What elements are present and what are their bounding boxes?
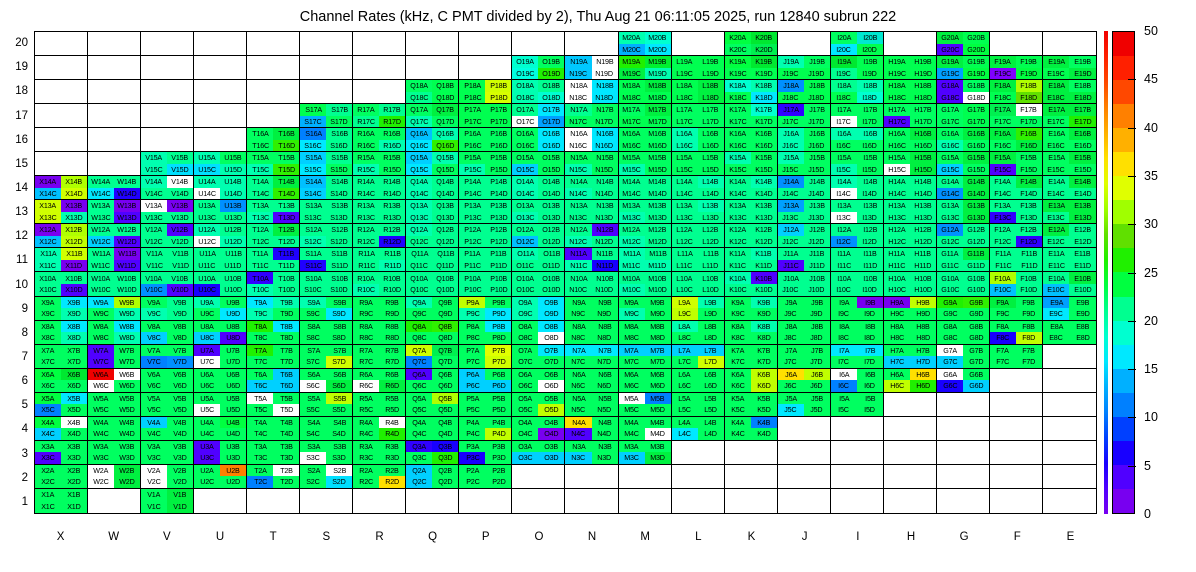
channel-Q6D: Q6D — [432, 380, 458, 392]
channel-I10D: I10D — [857, 284, 883, 296]
grid-cell-V12: V12AV12BV12CV12D — [141, 224, 194, 248]
grid-cell-P2: P2AP2BP2CP2D — [459, 465, 512, 489]
channel-X6C: X6C — [35, 380, 61, 392]
channel-T3D: T3D — [273, 452, 299, 464]
channel-T8C: T8C — [247, 332, 273, 344]
channel-I18B: I18B — [857, 80, 883, 92]
channel-U2C: U2C — [194, 476, 220, 488]
channel-Q11D: Q11D — [432, 260, 458, 272]
channel-I20C: I20C — [831, 44, 857, 56]
channel-W13B: W13B — [114, 200, 140, 212]
channel-M19D: M19D — [645, 68, 671, 80]
channel-L14B: L14B — [698, 176, 724, 188]
channel-J10C: J10C — [778, 284, 804, 296]
grid-cell-S5: S5AS5BS5CS5D — [300, 393, 353, 417]
channel-R16A: R16A — [353, 128, 379, 140]
grid-cell-T13: T13AT13BT13CT13D — [247, 200, 300, 224]
channel-W4C: W4C — [88, 428, 114, 440]
channel-M16C: M16C — [619, 140, 645, 152]
grid-cell-N13: N13AN13BN13CN13D — [565, 200, 618, 224]
grid-cell-S1 — [300, 489, 353, 513]
channel-V11B: V11B — [167, 248, 193, 260]
channel-P14A: P14A — [459, 176, 485, 188]
channel-H16B: H16B — [910, 128, 936, 140]
channel-H14C: H14C — [884, 188, 910, 200]
channel-M7C: M7C — [619, 356, 645, 368]
grid-cell-J11: J11AJ11BJ11CJ11D — [778, 248, 831, 272]
channel-G13C: G13C — [937, 212, 963, 224]
channel-G18B: G18B — [963, 80, 989, 92]
channel-U11C: U11C — [194, 260, 220, 272]
channel-K8C: K8C — [725, 332, 751, 344]
grid-cell-P20 — [459, 32, 512, 56]
channel-W7A: W7A — [88, 345, 114, 357]
grid-cell-J5: J5AJ5BJ5CJ5D — [778, 393, 831, 417]
channel-J18D: J18D — [804, 92, 830, 104]
channel-M18A: M18A — [619, 80, 645, 92]
channel-M19C: M19C — [619, 68, 645, 80]
channel-I17D: I17D — [857, 116, 883, 128]
channel-G10A: G10A — [937, 272, 963, 284]
channel-I7D: I7D — [857, 356, 883, 368]
channel-E15C: E15C — [1043, 164, 1070, 176]
channel-T12A: T12A — [247, 224, 273, 236]
channel-N19C: N19C — [565, 68, 591, 80]
channel-Q3B: Q3B — [432, 441, 458, 453]
x-tick-W: W — [94, 531, 134, 543]
channel-H12D: H12D — [910, 236, 936, 248]
channel-I10C: I10C — [831, 284, 857, 296]
channel-O7B: O7B — [538, 345, 564, 357]
channel-O7D: O7D — [538, 356, 564, 368]
channel-N18D: N18D — [592, 92, 618, 104]
channel-R10C: R10C — [353, 284, 379, 296]
channel-U9D: U9D — [220, 308, 246, 320]
channel-T10D: T10D — [273, 284, 299, 296]
channel-E12B: E12B — [1069, 224, 1096, 236]
channel-W11D: W11D — [114, 260, 140, 272]
channel-L9B: L9B — [698, 297, 724, 309]
channel-S3C: S3C — [300, 452, 326, 464]
grid-cell-L4: L4AL4BL4CL4D — [672, 417, 725, 441]
channel-M4B: M4B — [645, 417, 671, 429]
channel-I6C: I6C — [831, 380, 857, 392]
grid-cell-T6: T6AT6BT6CT6D — [247, 369, 300, 393]
colorbar-tick-label-25: 25 — [1144, 266, 1158, 280]
y-tick-3: 3 — [0, 448, 28, 460]
channel-U10C: U10C — [194, 284, 220, 296]
channel-V2C: V2C — [141, 476, 167, 488]
grid-cell-R11: R11AR11BR11CR11D — [353, 248, 406, 272]
channel-X7D: X7D — [61, 356, 87, 368]
channel-F12B: F12B — [1016, 224, 1042, 236]
channel-R2B: R2B — [379, 465, 405, 477]
channel-S9A: S9A — [300, 297, 326, 309]
grid-cell-W19 — [88, 56, 141, 80]
channel-N12D: N12D — [592, 236, 618, 248]
channel-U5B: U5B — [220, 393, 246, 405]
channel-U8B: U8B — [220, 321, 246, 333]
grid-cell-R4: R4AR4BR4CR4D — [353, 417, 406, 441]
grid-cell-E17: E17AE17BE17CE17D — [1043, 104, 1096, 128]
channel-J14B: J14B — [804, 176, 830, 188]
channel-P16C: P16C — [459, 140, 485, 152]
channel-H18A: H18A — [884, 80, 910, 92]
channel-J15B: J15B — [804, 152, 830, 164]
grid-cell-Q19 — [406, 56, 459, 80]
channel-F18C: F18C — [990, 92, 1016, 104]
channel-R17D: R17D — [379, 116, 405, 128]
channel-H9D: H9D — [910, 308, 936, 320]
grid-cell-W18 — [88, 80, 141, 104]
grid-cell-F3 — [990, 441, 1043, 465]
channel-G18A: G18A — [937, 80, 963, 92]
channel-S15C: S15C — [300, 164, 326, 176]
channel-X4D: X4D — [61, 428, 87, 440]
y-tick-19: 19 — [0, 61, 28, 73]
grid-cell-Q1 — [406, 489, 459, 513]
grid-cell-O19: O19AO19BO19CO19D — [512, 56, 565, 80]
channel-U13B: U13B — [220, 200, 246, 212]
grid-cell-L20 — [672, 32, 725, 56]
channel-V10A: V10A — [141, 272, 167, 284]
channel-P4A: P4A — [459, 417, 485, 429]
channel-K7B: K7B — [751, 345, 777, 357]
channel-R11C: R11C — [353, 260, 379, 272]
channel-K11D: K11D — [751, 260, 777, 272]
grid-cell-H18: H18AH18BH18CH18D — [884, 80, 937, 104]
channel-Q7C: Q7C — [406, 356, 432, 368]
channel-W7B: W7B — [114, 345, 140, 357]
channel-R3A: R3A — [353, 441, 379, 453]
channel-O18B: O18B — [538, 80, 564, 92]
channel-V6A: V6A — [141, 369, 167, 381]
channel-P4D: P4D — [485, 428, 511, 440]
grid-cell-U1 — [194, 489, 247, 513]
channel-I6A: I6A — [831, 369, 857, 381]
grid-cell-L8: L8AL8BL8CL8D — [672, 321, 725, 345]
grid-cell-E6 — [1043, 369, 1096, 393]
channel-J18C: J18C — [778, 92, 804, 104]
channel-M20C: M20C — [619, 44, 645, 56]
grid-cell-S16: S16AS16BS16CS16D — [300, 128, 353, 152]
channel-L4B: L4B — [698, 417, 724, 429]
channel-H12B: H12B — [910, 224, 936, 236]
channel-J19C: J19C — [778, 68, 804, 80]
channel-P18C: P18C — [459, 92, 485, 104]
grid-cell-J20 — [778, 32, 831, 56]
channel-W6A: W6A — [88, 369, 114, 381]
channel-U9C: U9C — [194, 308, 220, 320]
channel-S4C: S4C — [300, 428, 326, 440]
channel-R14A: R14A — [353, 176, 379, 188]
channel-J9A: J9A — [778, 297, 804, 309]
grid-cell-Q11: Q11AQ11BQ11CQ11D — [406, 248, 459, 272]
grid-cell-O8: O8AO8BO8CO8D — [512, 321, 565, 345]
channel-V14D: V14D — [167, 188, 193, 200]
channel-L11D: L11D — [698, 260, 724, 272]
channel-K11B: K11B — [751, 248, 777, 260]
grid-cell-P9: P9AP9BP9CP9D — [459, 297, 512, 321]
channel-F9D: F9D — [1016, 308, 1042, 320]
grid-cell-L13: L13AL13BL13CL13D — [672, 200, 725, 224]
channel-O6A: O6A — [512, 369, 538, 381]
channel-P17C: P17C — [459, 116, 485, 128]
grid-cell-S14: S14AS14BS14CS14D — [300, 176, 353, 200]
channel-O15D: O15D — [538, 164, 564, 176]
grid-cell-K12: K12AK12BK12CK12D — [725, 224, 778, 248]
grid-cell-E3 — [1043, 441, 1096, 465]
channel-W8A: W8A — [88, 321, 114, 333]
channel-G19B: G19B — [963, 56, 989, 68]
channel-M17D: M17D — [645, 116, 671, 128]
channel-W11A: W11A — [88, 248, 114, 260]
channel-N6B: N6B — [592, 369, 618, 381]
grid-cell-E10: E10AE10BE10CE10D — [1043, 272, 1096, 296]
grid-cell-T15: T15AT15BT15CT15D — [247, 152, 300, 176]
grid-cell-S8: S8AS8BS8CS8D — [300, 321, 353, 345]
channel-W5A: W5A — [88, 393, 114, 405]
channel-T15D: T15D — [273, 164, 299, 176]
channel-K13C: K13C — [725, 212, 751, 224]
channel-M9D: M9D — [645, 308, 671, 320]
channel-S3D: S3D — [326, 452, 352, 464]
channel-J6A: J6A — [778, 369, 804, 381]
channel-S5B: S5B — [326, 393, 352, 405]
grid-cell-E1 — [1043, 489, 1096, 513]
channel-P12D: P12D — [485, 236, 511, 248]
channel-Q8A: Q8A — [406, 321, 432, 333]
channel-L19C: L19C — [672, 68, 698, 80]
grid-cell-I17: I17AI17BI17CI17D — [831, 104, 884, 128]
channel-M13B: M13B — [645, 200, 671, 212]
channel-X12C: X12C — [35, 236, 61, 248]
channel-K19C: K19C — [725, 68, 751, 80]
grid-cell-U17 — [194, 104, 247, 128]
channel-S2B: S2B — [326, 465, 352, 477]
channel-L7A: L7A — [672, 345, 698, 357]
channel-L6D: L6D — [698, 380, 724, 392]
colorbar-band-4 — [1113, 128, 1134, 152]
channel-W13A: W13A — [88, 200, 114, 212]
grid-cell-J7: J7AJ7BJ7CJ7D — [778, 345, 831, 369]
channel-I11A: I11A — [831, 248, 857, 260]
channel-P9C: P9C — [459, 308, 485, 320]
grid-cell-U12: U12AU12BU12CU12D — [194, 224, 247, 248]
channel-X1A: X1A — [35, 489, 61, 501]
channel-X3D: X3D — [61, 452, 87, 464]
grid-cell-F16: F16AF16BF16CF16D — [990, 128, 1043, 152]
channel-I8A: I8A — [831, 321, 857, 333]
channel-T3A: T3A — [247, 441, 273, 453]
grid-cell-T5: T5AT5BT5CT5D — [247, 393, 300, 417]
channel-Q5A: Q5A — [406, 393, 432, 405]
grid-cell-H20 — [884, 32, 937, 56]
channel-O3B: O3B — [538, 441, 564, 453]
channel-Q15C: Q15C — [406, 164, 432, 176]
channel-H17D: H17D — [910, 116, 936, 128]
channel-G19C: G19C — [937, 68, 963, 80]
channel-U7C: U7C — [194, 356, 220, 368]
channel-P7D: P7D — [485, 356, 511, 368]
grid-cell-V6: V6AV6BV6CV6D — [141, 369, 194, 393]
channel-W3A: W3A — [88, 441, 114, 453]
grid-cell-W3: W3AW3BW3CW3D — [88, 441, 141, 465]
colorbar-band-19 — [1113, 489, 1134, 513]
grid-cell-F13: F13AF13BF13CF13D — [990, 200, 1043, 224]
grid-cell-M17: M17AM17BM17CM17D — [619, 104, 672, 128]
grid-cell-U8: U8AU8BU8CU8D — [194, 321, 247, 345]
channel-E14A: E14A — [1043, 176, 1070, 188]
grid-cell-R20 — [353, 32, 406, 56]
channel-J17C: J17C — [778, 116, 804, 128]
grid-cell-U3: U3AU3BU3CU3D — [194, 441, 247, 465]
channel-O8A: O8A — [512, 321, 538, 333]
channel-Q11B: Q11B — [432, 248, 458, 260]
channel-F10B: F10B — [1016, 272, 1042, 284]
channel-S13D: S13D — [326, 212, 352, 224]
channel-F11A: F11A — [990, 248, 1016, 260]
channel-T11A: T11A — [247, 248, 273, 260]
channel-J12C: J12C — [778, 236, 804, 248]
x-tick-E: E — [1050, 531, 1090, 543]
channel-I13A: I13A — [831, 200, 857, 212]
channel-S7D: S7D — [326, 356, 352, 368]
channel-N18B: N18B — [592, 80, 618, 92]
channel-S16B: S16B — [326, 128, 352, 140]
grid-cell-J19: J19AJ19BJ19CJ19D — [778, 56, 831, 80]
grid-cell-W14: W14AW14BW14CW14D — [88, 176, 141, 200]
channel-J15A: J15A — [778, 152, 804, 164]
channel-G9D: G9D — [963, 308, 989, 320]
channel-E17D: E17D — [1069, 116, 1096, 128]
channel-N4B: N4B — [592, 417, 618, 429]
channel-G8B: G8B — [963, 321, 989, 333]
grid-cell-J17: J17AJ17BJ17CJ17D — [778, 104, 831, 128]
channel-R7D: R7D — [379, 356, 405, 368]
grid-cell-J14: J14AJ14BJ14CJ14D — [778, 176, 831, 200]
channel-J11D: J11D — [804, 260, 830, 272]
channel-M16A: M16A — [619, 128, 645, 140]
channel-Q3D: Q3D — [432, 452, 458, 464]
channel-E13D: E13D — [1069, 212, 1096, 224]
grid-cell-R18 — [353, 80, 406, 104]
grid-cell-I3 — [831, 441, 884, 465]
channel-H9A: H9A — [884, 297, 910, 309]
channel-Q10D: Q10D — [432, 284, 458, 296]
channel-T6B: T6B — [273, 369, 299, 381]
channel-F8A: F8A — [990, 321, 1016, 333]
channel-P12C: P12C — [459, 236, 485, 248]
grid-cell-H2 — [884, 465, 937, 489]
channel-P14C: P14C — [459, 188, 485, 200]
channel-V6C: V6C — [141, 380, 167, 392]
channel-W2A: W2A — [88, 465, 114, 477]
channel-J16A: J16A — [778, 128, 804, 140]
channel-F16A: F16A — [990, 128, 1016, 140]
channel-Q11A: Q11A — [406, 248, 432, 260]
channel-T5D: T5D — [273, 404, 299, 416]
channel-O9A: O9A — [512, 297, 538, 309]
channel-P9D: P9D — [485, 308, 511, 320]
channel-I16B: I16B — [857, 128, 883, 140]
channel-M10D: M10D — [645, 284, 671, 296]
channel-G20B: G20B — [963, 32, 989, 44]
grid-cell-Q4: Q4AQ4BQ4CQ4D — [406, 417, 459, 441]
channel-R9A: R9A — [353, 297, 379, 309]
channel-H13B: H13B — [910, 200, 936, 212]
x-tick-O: O — [519, 531, 559, 543]
grid-cell-W16 — [88, 128, 141, 152]
channel-R15C: R15C — [353, 164, 379, 176]
channel-Q2A: Q2A — [406, 465, 432, 477]
channel-V1B: V1B — [167, 489, 193, 501]
grid-cell-G16: G16AG16BG16CG16D — [937, 128, 990, 152]
channel-S8D: S8D — [326, 332, 352, 344]
channel-E10A: E10A — [1043, 272, 1070, 284]
colorbar-band-5 — [1113, 152, 1134, 176]
channel-V14A: V14A — [141, 176, 167, 188]
channel-E16B: E16B — [1069, 128, 1096, 140]
channel-J7D: J7D — [804, 356, 830, 368]
channel-G19A: G19A — [937, 56, 963, 68]
channel-X5C: X5C — [35, 404, 61, 416]
grid-cell-I15: I15AI15BI15CI15D — [831, 152, 884, 176]
channel-P16A: P16A — [459, 128, 485, 140]
channel-N17A: N17A — [565, 104, 591, 116]
channel-O11D: O11D — [538, 260, 564, 272]
channel-R6B: R6B — [379, 369, 405, 381]
channel-S15B: S15B — [326, 152, 352, 164]
y-tick-1: 1 — [0, 496, 28, 508]
channel-X1D: X1D — [61, 501, 87, 513]
channel-M14B: M14B — [645, 176, 671, 188]
channel-Q12C: Q12C — [406, 236, 432, 248]
channel-V13B: V13B — [167, 200, 193, 212]
colorbar-tick-label-30: 30 — [1144, 217, 1158, 231]
channel-K12C: K12C — [725, 236, 751, 248]
channel-M3C: M3C — [619, 452, 645, 464]
channel-Q14D: Q14D — [432, 188, 458, 200]
channel-K12B: K12B — [751, 224, 777, 236]
grid-cell-Q17: Q17AQ17BQ17CQ17D — [406, 104, 459, 128]
grid-cell-H12: H12AH12BH12CH12D — [884, 224, 937, 248]
colorbar-tick-mark-25 — [1128, 273, 1136, 274]
grid-cell-G18: G18AG18BG18CG18D — [937, 80, 990, 104]
channel-T2A: T2A — [247, 465, 273, 477]
channel-Q17B: Q17B — [432, 104, 458, 116]
grid-cell-H16: H16AH16BH16CH16D — [884, 128, 937, 152]
channel-J19B: J19B — [804, 56, 830, 68]
channel-J19D: J19D — [804, 68, 830, 80]
channel-R17C: R17C — [353, 116, 379, 128]
channel-K17B: K17B — [751, 104, 777, 116]
channel-P11A: P11A — [459, 248, 485, 260]
channel-S14A: S14A — [300, 176, 326, 188]
channel-U14D: U14D — [220, 188, 246, 200]
grid-cell-F9: F9AF9BF9CF9D — [990, 297, 1043, 321]
channel-T6C: T6C — [247, 380, 273, 392]
channel-G12A: G12A — [937, 224, 963, 236]
channel-J7A: J7A — [778, 345, 804, 357]
grid-cell-U13: U13AU13BU13CU13D — [194, 200, 247, 224]
channel-S14B: S14B — [326, 176, 352, 188]
channel-S15D: S15D — [326, 164, 352, 176]
channel-K6A: K6A — [725, 369, 751, 381]
channel-N5C: N5C — [565, 404, 591, 416]
channel-O13C: O13C — [512, 212, 538, 224]
channel-K9A: K9A — [725, 297, 751, 309]
